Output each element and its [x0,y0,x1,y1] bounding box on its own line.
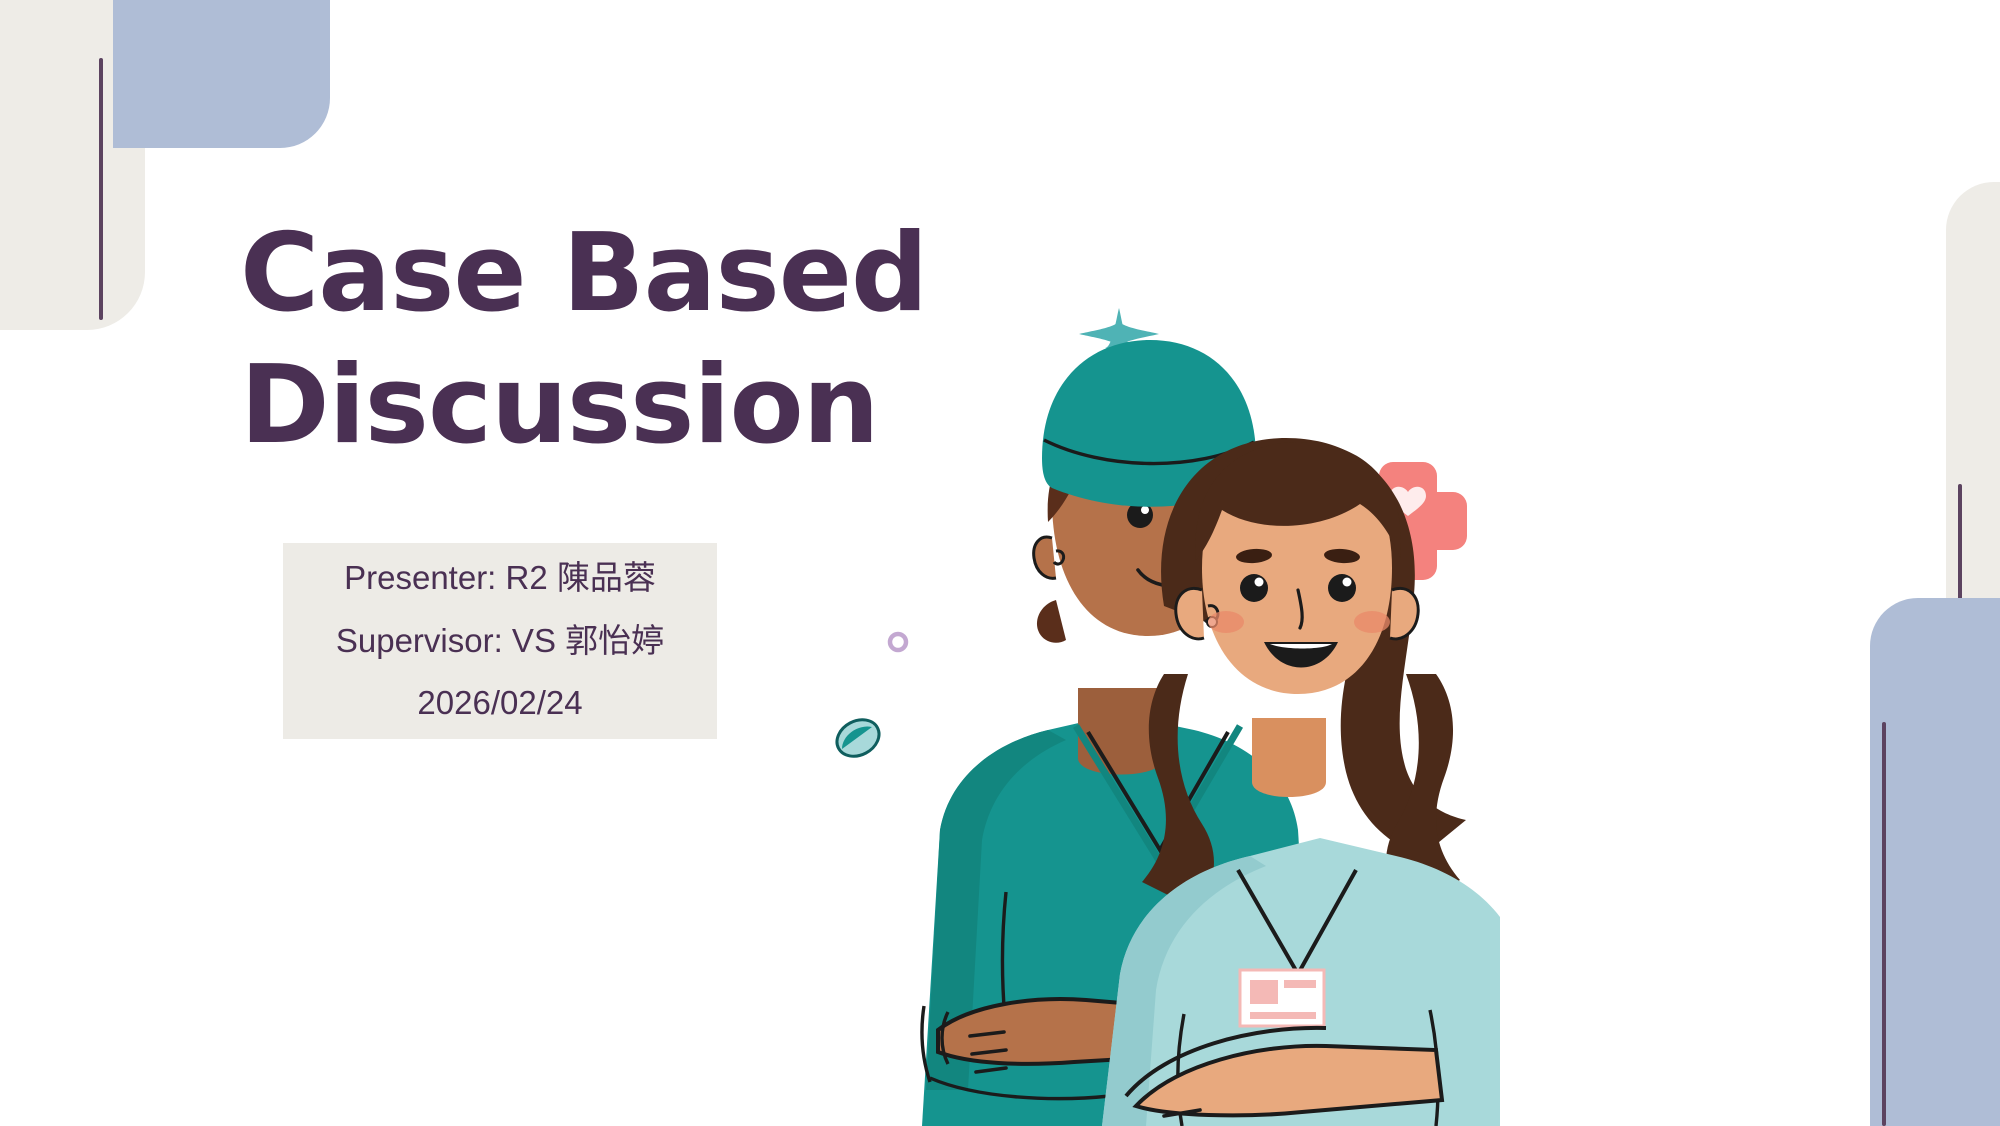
healthcare-workers-illustration [820,270,1500,1126]
decor-blue-panel-top-left [113,0,330,148]
ring-icon-left [890,634,906,650]
subtitle-date: 2026/02/24 [417,672,582,735]
slide-subtitle-box: Presenter: R2 陳品蓉 Supervisor: VS 郭怡婷 202… [283,543,717,739]
presentation-slide: Case Based Discussion Presenter: R2 陳品蓉 … [0,0,2000,1126]
decor-vertical-line-top-left [99,58,103,320]
decor-vertical-line-right-lower [1882,722,1886,1126]
subtitle-presenter: Presenter: R2 陳品蓉 [344,547,656,610]
capsule-icon [831,713,886,764]
subtitle-supervisor: Supervisor: VS 郭怡婷 [336,610,664,673]
decor-blue-panel-bottom-right [1870,598,2000,1126]
